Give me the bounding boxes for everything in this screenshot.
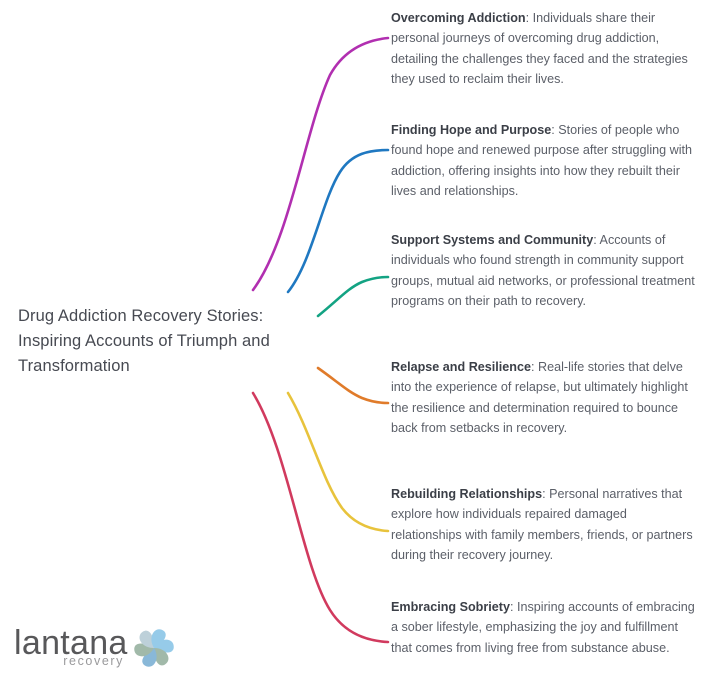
branch-label: Finding Hope and Purpose bbox=[391, 123, 551, 137]
connector-curve-6 bbox=[253, 393, 388, 642]
branch-text: Embracing Sobriety: Inspiring accounts o… bbox=[391, 597, 701, 658]
lantana-recovery-logo[interactable]: lantana recovery bbox=[14, 622, 180, 674]
root-node-title: Drug Addiction Recovery Stories: Inspiri… bbox=[18, 304, 308, 379]
logo-tagline: recovery bbox=[63, 654, 124, 668]
branch-separator: : bbox=[510, 600, 517, 614]
branch-node-support-systems-and-community[interactable]: Support Systems and Community: Accounts … bbox=[391, 230, 701, 312]
branch-separator: : bbox=[531, 360, 538, 374]
branch-text: Relapse and Resilience: Real-life storie… bbox=[391, 357, 701, 439]
connector-curve-4 bbox=[318, 368, 388, 403]
logo-wordmark: lantana recovery bbox=[14, 624, 126, 672]
branch-node-finding-hope-and-purpose[interactable]: Finding Hope and Purpose: Stories of peo… bbox=[391, 120, 701, 202]
branch-node-relapse-and-resilience[interactable]: Relapse and Resilience: Real-life storie… bbox=[391, 357, 701, 439]
branch-node-rebuilding-relationships[interactable]: Rebuilding Relationships: Personal narra… bbox=[391, 484, 701, 566]
connector-curve-5 bbox=[288, 393, 388, 531]
branch-label: Overcoming Addiction bbox=[391, 11, 526, 25]
branch-text: Rebuilding Relationships: Personal narra… bbox=[391, 484, 701, 566]
branch-label: Rebuilding Relationships bbox=[391, 487, 542, 501]
branch-separator: : bbox=[526, 11, 533, 25]
root-node[interactable]: Drug Addiction Recovery Stories: Inspiri… bbox=[18, 300, 308, 385]
mind-map-canvas: Drug Addiction Recovery Stories: Inspiri… bbox=[0, 0, 720, 685]
branch-node-embracing-sobriety[interactable]: Embracing Sobriety: Inspiring accounts o… bbox=[391, 597, 701, 658]
branch-label: Embracing Sobriety bbox=[391, 600, 510, 614]
branch-text: Overcoming Addiction: Individuals share … bbox=[391, 8, 701, 90]
pinwheel-flower-icon bbox=[128, 622, 180, 674]
connector-curve-1 bbox=[253, 38, 388, 290]
branch-label: Relapse and Resilience bbox=[391, 360, 531, 374]
branch-node-overcoming-addiction[interactable]: Overcoming Addiction: Individuals share … bbox=[391, 8, 701, 90]
branch-text: Finding Hope and Purpose: Stories of peo… bbox=[391, 120, 701, 202]
branch-label: Support Systems and Community bbox=[391, 233, 593, 247]
connector-curve-2 bbox=[288, 150, 388, 292]
branch-text: Support Systems and Community: Accounts … bbox=[391, 230, 701, 312]
connector-curve-3 bbox=[318, 277, 388, 316]
